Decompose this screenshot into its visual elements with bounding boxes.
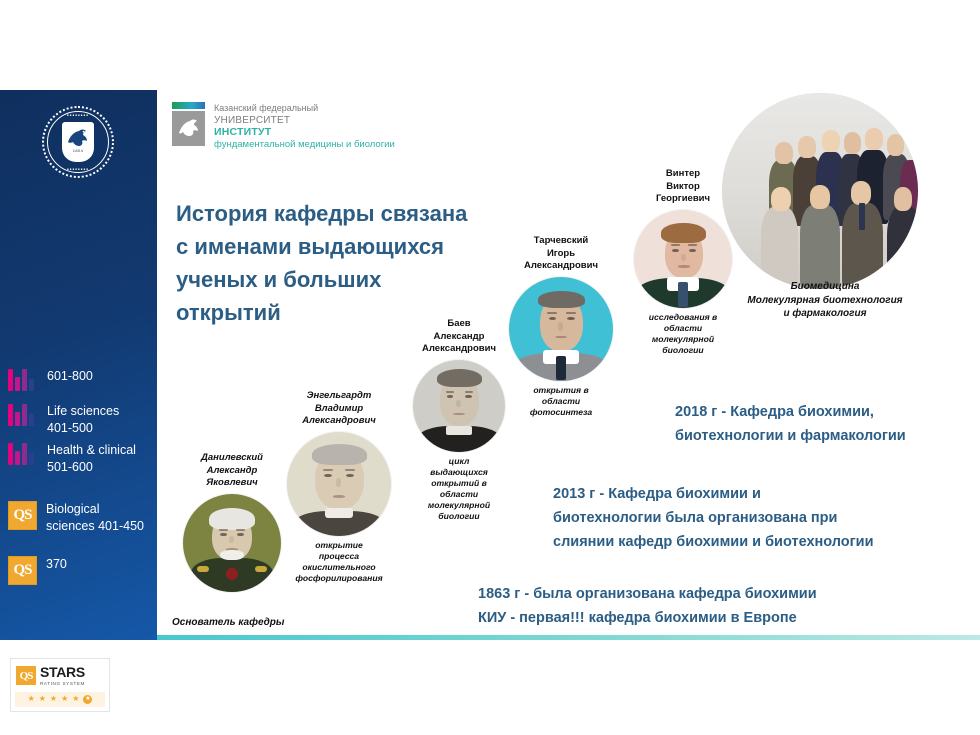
left-sidebar: •••••••• 1804 •••••••• 601-800 Life scie…: [0, 90, 157, 640]
scientist-portrait: [509, 277, 613, 381]
portrait-face: [634, 210, 732, 308]
institute-line-4: фундаментальной медицины и биологии: [214, 139, 395, 151]
the-logo-icon: [8, 369, 38, 391]
griffin-icon: [176, 115, 202, 141]
qs-logo-icon: QS: [8, 501, 37, 530]
griffin-icon: [65, 126, 91, 150]
institute-mark-icon: [172, 102, 205, 146]
scientist-portrait: [634, 210, 732, 308]
scientist-node-engelhardt: Энгельгардт Владимир Александрович откры…: [275, 390, 403, 584]
scientist-name: Данилевский Александр Яковлевич: [172, 452, 292, 490]
ranking-row-the-health-clinical: Health & clinical 501-600: [8, 442, 136, 476]
ranking-value: Health & clinical 501-600: [47, 442, 136, 476]
institute-line-3: ИНСТИТУТ: [214, 127, 395, 139]
footer-teal-bar: [157, 635, 980, 640]
portrait-face: [183, 494, 281, 592]
slide-canvas: •••••••• 1804 •••••••• 601-800 Life scie…: [0, 90, 980, 640]
ranking-value: 601-800: [47, 368, 93, 385]
the-logo-icon: [8, 404, 38, 426]
ranking-row-the-life-sciences: Life sciences 401-500: [8, 403, 119, 437]
seal-arc-top-text: ••••••••: [42, 113, 114, 119]
biomedicine-caption: Биомедицина Молекулярная биотехнология и…: [720, 280, 930, 321]
ranking-value: 370: [46, 556, 67, 573]
star-icon: ★: [50, 695, 57, 703]
scientist-portrait: [413, 360, 505, 452]
scientist-node-tarchevsky: Тарчевский Игорь Александрович открытия …: [497, 235, 625, 418]
ranking-row-the-overall: 601-800: [8, 368, 93, 391]
portrait-face: [413, 360, 505, 452]
page-title: История кафедры связана с именами выдающ…: [176, 197, 506, 329]
institute-logo: Казанский федеральный УНИВЕРСИТЕТ ИНСТИТ…: [172, 102, 395, 150]
institute-shield: [172, 111, 205, 146]
qs-stars-title: STARS: [40, 664, 85, 680]
star-badge-icon: ★: [83, 695, 92, 704]
scientist-portrait: [287, 432, 391, 536]
kfu-seal-logo: •••••••• 1804 ••••••••: [42, 106, 114, 178]
seal-shield: 1804: [62, 122, 94, 162]
qs-stars-wordmark: STARS RATING SYSTEM: [40, 665, 85, 687]
institute-colorbar: [172, 102, 205, 109]
qs-stars-header: QS STARS RATING SYSTEM: [11, 659, 109, 689]
timeline-entry-1863: 1863 г - была организована кафедра биохи…: [478, 582, 817, 630]
scientist-caption: открытия в области фотосинтеза: [497, 385, 625, 418]
scientist-caption: цикл выдающихся открытий в области молек…: [400, 456, 518, 522]
star-icon: ★: [72, 695, 79, 703]
the-logo-icon: [8, 443, 38, 465]
scientist-portrait: [183, 494, 281, 592]
ranking-row-qs-overall: QS 370: [8, 556, 67, 585]
star-icon: ★: [28, 695, 35, 703]
seal-year: 1804: [62, 148, 94, 153]
star-icon: ★: [39, 695, 46, 703]
institute-line-2: УНИВЕРСИТЕТ: [214, 115, 395, 127]
ranking-row-qs-biological-sciences: QS Biological sciences 401-450: [8, 501, 144, 535]
scientist-caption: открытие процесса окислительного фосфори…: [275, 540, 403, 584]
ranking-value: Biological sciences 401-450: [46, 501, 144, 535]
star-icon: ★: [61, 695, 68, 703]
seal-arc-bottom-text: ••••••••: [42, 167, 114, 173]
portrait-face: [509, 277, 613, 381]
qs-stars-rating-bar: ★ ★ ★ ★ ★ ★: [15, 692, 105, 707]
qs-logo-icon: QS: [8, 556, 37, 585]
portrait-face: [287, 432, 391, 536]
qs-logo-icon: QS: [16, 666, 36, 685]
timeline-entry-2018: 2018 г - Кафедра биохимии, биотехнологии…: [675, 400, 906, 448]
founder-label: Основатель кафедры: [172, 617, 284, 628]
scientist-name: Тарчевский Игорь Александрович: [497, 235, 625, 273]
scientist-name: Энгельгардт Владимир Александрович: [275, 390, 403, 428]
ranking-value: Life sciences 401-500: [47, 403, 119, 437]
scientist-node-danilevsky: Данилевский Александр Яковлевич: [172, 452, 292, 596]
department-group-photo: [722, 93, 918, 289]
institute-text-block: Казанский федеральный УНИВЕРСИТЕТ ИНСТИТ…: [214, 102, 395, 150]
qs-stars-subtitle: RATING SYSTEM: [40, 682, 85, 687]
institute-line-1: Казанский федеральный: [214, 103, 395, 115]
timeline-entry-2013: 2013 г - Кафедра биохимии и биотехнологи…: [553, 482, 874, 554]
qs-stars-badge: QS STARS RATING SYSTEM ★ ★ ★ ★ ★ ★: [10, 658, 110, 712]
